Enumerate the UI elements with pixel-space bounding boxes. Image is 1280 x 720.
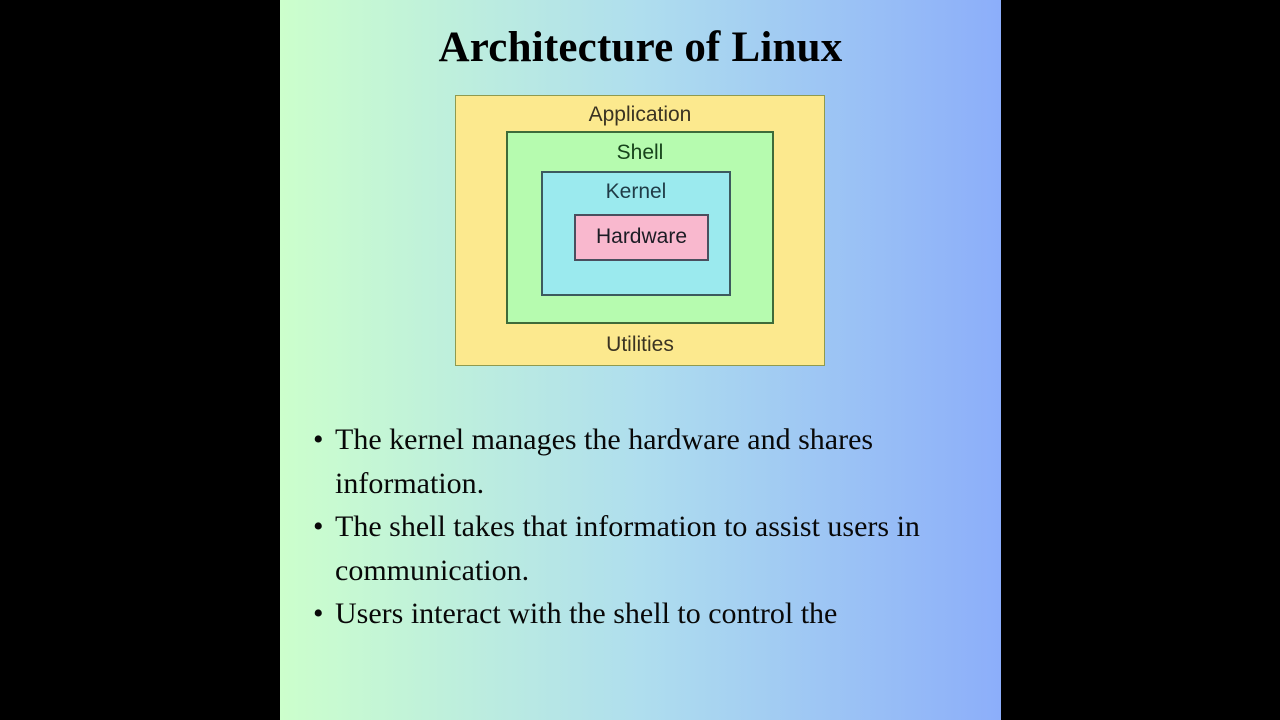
list-item-text: The shell takes that information to assi… bbox=[335, 505, 968, 592]
diagram-label-application: Application bbox=[456, 103, 824, 127]
diagram-label-hardware: Hardware bbox=[576, 225, 707, 249]
presentation-slide: Architecture of Linux Application Utilit… bbox=[280, 0, 1001, 720]
list-item: • Users interact with the shell to contr… bbox=[308, 592, 968, 636]
bullet-list: • The kernel manages the hardware and sh… bbox=[308, 418, 968, 636]
page-title: Architecture of Linux bbox=[280, 22, 1001, 74]
bullet-marker-icon: • bbox=[313, 592, 324, 636]
list-item-text: The kernel manages the hardware and shar… bbox=[335, 418, 968, 505]
diagram-layer-hardware: Hardware bbox=[574, 214, 709, 261]
list-item: • The kernel manages the hardware and sh… bbox=[308, 418, 968, 505]
diagram-label-kernel: Kernel bbox=[543, 180, 729, 204]
letterbox-right bbox=[1001, 0, 1280, 720]
diagram-label-utilities: Utilities bbox=[456, 333, 824, 357]
bullet-marker-icon: • bbox=[313, 505, 324, 549]
list-item-text: Users interact with the shell to control… bbox=[335, 592, 968, 636]
letterbox-left bbox=[0, 0, 280, 720]
architecture-diagram: Application Utilities Shell Kernel Hardw… bbox=[455, 95, 825, 366]
list-item: • The shell takes that information to as… bbox=[308, 505, 968, 592]
diagram-label-shell: Shell bbox=[508, 141, 772, 165]
bullet-marker-icon: • bbox=[313, 418, 324, 462]
video-frame: Architecture of Linux Application Utilit… bbox=[0, 0, 1280, 720]
